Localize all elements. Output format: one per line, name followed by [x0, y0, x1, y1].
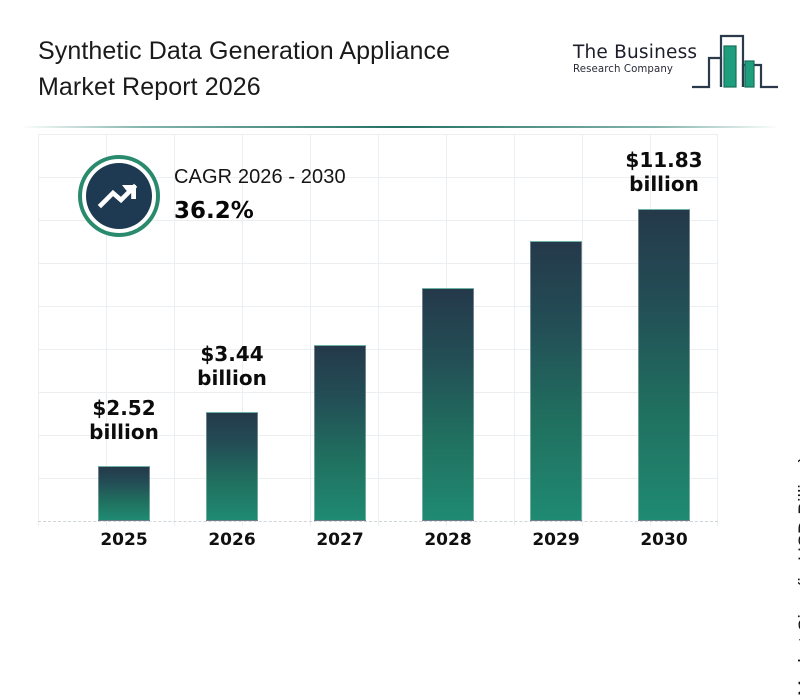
x-axis-tick-2026: 2026 — [172, 530, 292, 550]
bar-2030[interactable] — [638, 209, 690, 521]
header: Synthetic Data Generation Appliance Mark… — [0, 0, 800, 120]
page-title-line-1: Synthetic Data Generation Appliance — [38, 34, 538, 70]
company-logo-text: The Business Research Company — [573, 42, 698, 75]
x-axis-tick-2028: 2028 — [388, 530, 508, 550]
bar-2026[interactable] — [206, 412, 258, 521]
x-axis-tick-2029: 2029 — [496, 530, 616, 550]
cagr-badge-circle — [78, 155, 160, 237]
cagr-badge-text: CAGR 2026 - 2030 36.2% — [174, 165, 346, 224]
bar-value-label-2030: $11.83 billion — [604, 148, 724, 197]
bar-value-amount-2030: $11.83 — [604, 148, 724, 172]
bar-value-unit-2026: billion — [172, 366, 292, 390]
trending-up-arrow-icon — [97, 179, 141, 213]
x-axis-tick-2027: 2027 — [280, 530, 400, 550]
bar-chart-logo-icon — [691, 28, 779, 96]
cagr-badge-disc — [86, 163, 152, 229]
bar-2027[interactable] — [314, 345, 366, 521]
cagr-value-label: 36.2% — [174, 198, 346, 224]
bar-value-unit-2030: billion — [604, 172, 724, 196]
bar-2025[interactable] — [98, 466, 150, 521]
x-axis-tick-2030: 2030 — [604, 530, 724, 550]
header-divider — [20, 126, 780, 128]
bar-2028[interactable] — [422, 288, 474, 521]
company-logo-brand: The Business — [573, 42, 698, 63]
bar-value-unit-2025: billion — [64, 420, 184, 444]
company-logo: The Business Research Company — [573, 28, 778, 100]
chart-baseline — [38, 521, 718, 522]
bar-value-label-2025: $2.52 billion — [64, 396, 184, 445]
y-axis-label: Market Size (in USD Billion) — [796, 456, 800, 696]
bar-value-label-2026: $3.44 billion — [172, 342, 292, 391]
x-axis-tick-2025: 2025 — [64, 530, 184, 550]
cagr-period-label: CAGR 2026 - 2030 — [174, 165, 346, 190]
page-title-line-2: Market Report 2026 — [38, 70, 538, 106]
cagr-badge: CAGR 2026 - 2030 36.2% — [78, 155, 408, 241]
bar-value-amount-2025: $2.52 — [64, 396, 184, 420]
bar-value-amount-2026: $3.44 — [172, 342, 292, 366]
page-title: Synthetic Data Generation Appliance Mark… — [38, 34, 538, 105]
chart-page: Synthetic Data Generation Appliance Mark… — [0, 0, 800, 600]
bar-2029[interactable] — [530, 241, 582, 521]
company-logo-subtitle: Research Company — [573, 64, 698, 75]
